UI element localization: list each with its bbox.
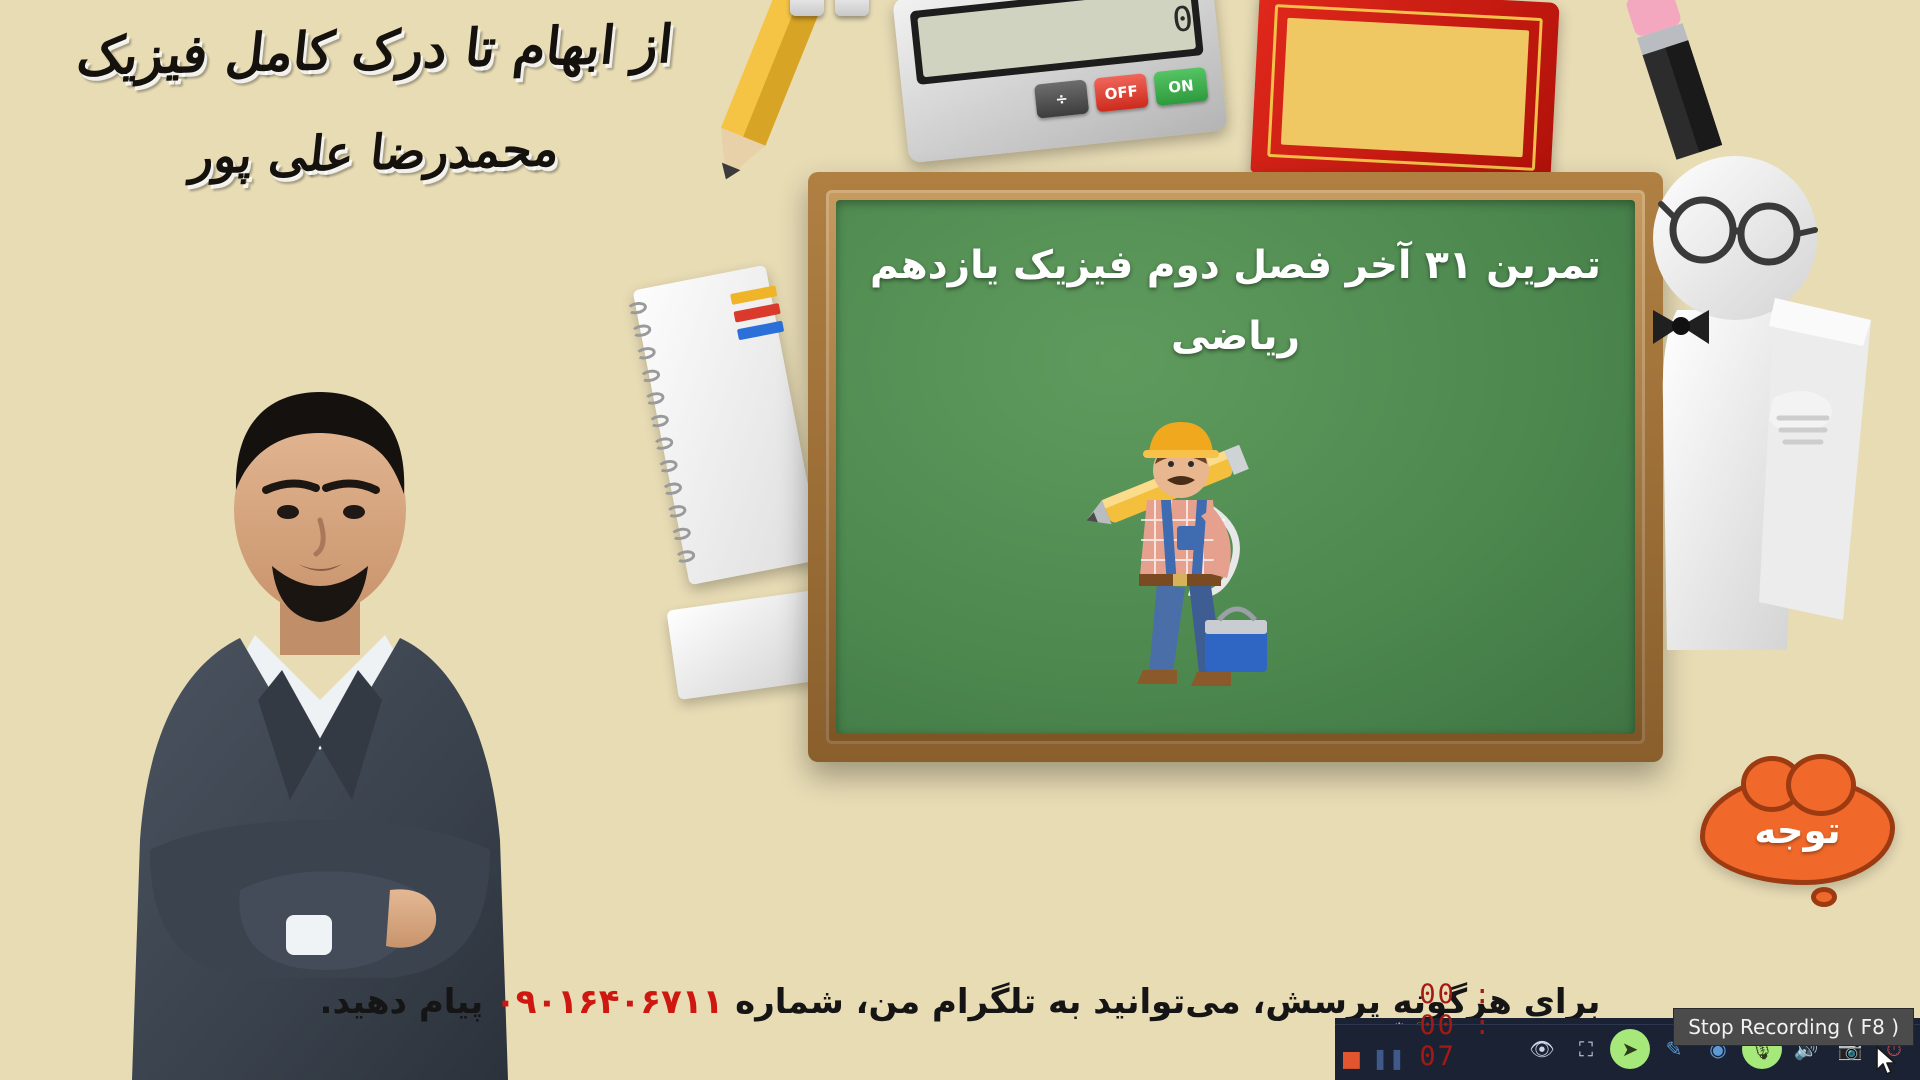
- branding-block: از ابهام تا درک کامل فیزیک محمدرضا علی پ…: [10, 18, 740, 183]
- cursor-icon[interactable]: ➤: [1610, 1029, 1650, 1069]
- attention-label: توجه: [1754, 809, 1840, 852]
- red-book-prop: [1250, 0, 1559, 188]
- book-inner-border: [1267, 4, 1543, 171]
- attention-tail: [1811, 887, 1837, 907]
- eye-icon[interactable]: 👁: [1522, 1029, 1562, 1069]
- lesson-title-line-1: تمرین ۳۱ آخر فصل دوم فیزیک یازدهم: [836, 238, 1635, 295]
- calculator-display: 0: [917, 0, 1196, 77]
- board-clip-left: [790, 0, 824, 16]
- attention-cloud-shape: توجه: [1700, 775, 1895, 885]
- calculator-prop: 0 ÷ OFF ON: [892, 0, 1227, 163]
- book-cover-plate: [1281, 18, 1529, 157]
- stop-recording-tooltip: Stop Recording ( F8 ): [1673, 1008, 1914, 1046]
- select-region-icon[interactable]: ⛶: [1566, 1029, 1606, 1069]
- instructor-name: محمدرضا علی پور: [6, 115, 744, 190]
- notepad-tabs: [730, 285, 785, 347]
- contact-caption: برای هرگونه پرسش، می‌توانید به تلگرام من…: [0, 982, 1920, 1022]
- mascot-character: [1625, 130, 1895, 650]
- notepad-spiral: [626, 300, 698, 575]
- calculator-key-on[interactable]: ON: [1153, 67, 1208, 106]
- slide-stage: از ابهام تا درک کامل فیزیک محمدرضا علی پ…: [0, 0, 1920, 1080]
- calculator-key-off[interactable]: OFF: [1094, 73, 1149, 112]
- stop-recording-button[interactable]: ■: [1335, 1047, 1368, 1072]
- lesson-title-line-2: ریاضی: [836, 309, 1635, 366]
- calculator-key-divide[interactable]: ÷: [1034, 79, 1089, 118]
- presenter-portrait: [90, 370, 550, 1080]
- eraser-prop: [666, 590, 827, 700]
- spiral-notepad-prop: [633, 265, 823, 585]
- worker-character-illustration: [1085, 408, 1275, 708]
- pause-recording-button[interactable]: ❚❚: [1368, 1046, 1410, 1070]
- course-tagline: از ابهام تا درک کامل فیزیک: [6, 10, 744, 90]
- caption-text-after: پیام دهید.: [320, 982, 495, 1022]
- telegram-phone-number: ۰۹۰۱۶۴۰۶۷۱۱: [495, 982, 723, 1022]
- recording-elapsed-timer: 00 : 00 : 07: [1409, 979, 1512, 1080]
- mouse-cursor: [1876, 1046, 1898, 1076]
- board-clip-right: [835, 0, 869, 16]
- attention-callout: توجه: [1700, 775, 1895, 885]
